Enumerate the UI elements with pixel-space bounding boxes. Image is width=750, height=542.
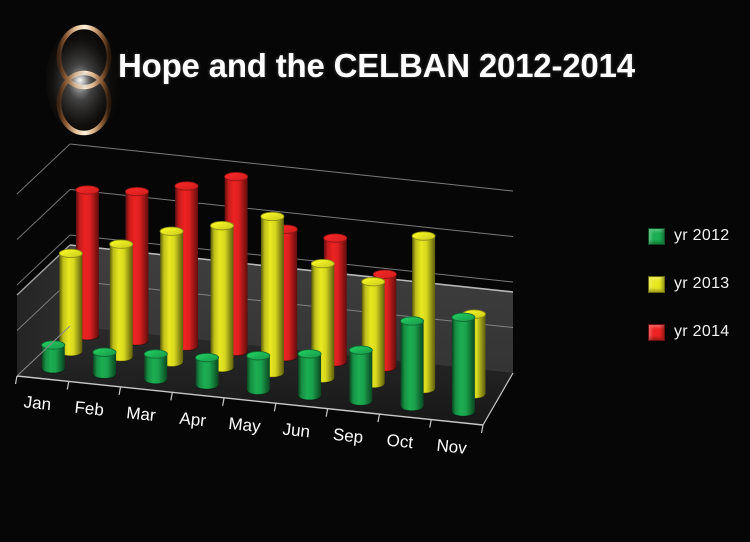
category-label-sep: Sep (332, 425, 364, 447)
page-title: Hope and the CELBAN 2012-2014 (118, 47, 635, 85)
chart-area: JanFebMarAprMayJunSepOctNov (0, 140, 640, 490)
green-square-swatch (648, 228, 665, 245)
category-label-jan: Jan (23, 392, 52, 414)
clustered-3d-cylinder-chart: JanFebMarAprMayJunSepOctNov (0, 140, 640, 490)
category-label-mar: Mar (125, 403, 156, 425)
legend-item-yr-2014[interactable]: yr 2014 (648, 314, 748, 350)
legend-label-yr-2014: yr 2014 (674, 323, 729, 341)
legend-item-yr-2013[interactable]: yr 2013 (648, 266, 748, 302)
bar-cylinder (211, 221, 234, 371)
bar-cylinder (59, 249, 82, 356)
slide-canvas: Hope and the CELBAN 2012-2014 (0, 0, 750, 542)
category-label-nov: Nov (436, 436, 469, 458)
slide-header: Hope and the CELBAN 2012-2014 (0, 0, 750, 150)
bar-cylinder (42, 341, 65, 373)
bar-cylinder (144, 350, 167, 384)
bar-cylinder (298, 350, 321, 400)
bar-cylinder (452, 313, 475, 416)
category-label-feb: Feb (74, 398, 105, 420)
bar-cylinder (110, 240, 133, 361)
category-label-apr: Apr (179, 409, 208, 431)
bar-cylinder (160, 227, 183, 366)
legend-item-yr-2012[interactable]: yr 2012 (648, 218, 748, 254)
bar-cylinder (401, 317, 424, 411)
bar-cylinder (349, 346, 372, 405)
category-label-jun: Jun (282, 420, 311, 442)
yellow-square-swatch (648, 276, 665, 293)
category-label-oct: Oct (386, 431, 415, 453)
red-square-swatch (648, 324, 665, 341)
bar-cylinder (247, 352, 270, 395)
legend-label-yr-2012: yr 2012 (674, 227, 729, 245)
bar-cylinder (196, 353, 219, 389)
category-label-may: May (228, 414, 262, 436)
bar-cylinder (93, 348, 116, 378)
chart-legend: yr 2012 yr 2013 yr 2014 (648, 218, 748, 362)
infinity-eight-logo (46, 24, 122, 136)
legend-label-yr-2013: yr 2013 (674, 275, 729, 293)
